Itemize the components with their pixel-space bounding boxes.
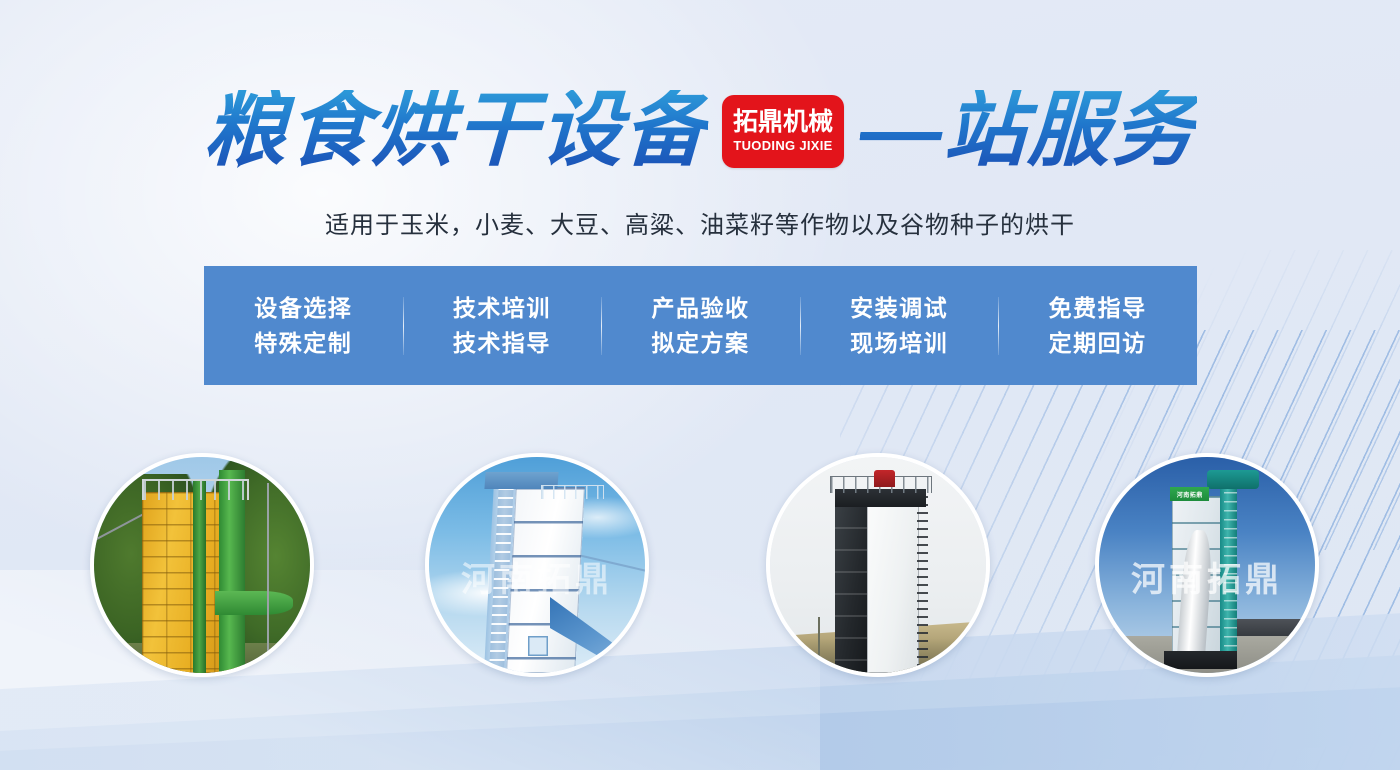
top-railing (541, 485, 603, 499)
dryer-head-unit (1207, 470, 1259, 489)
product-photo-4[interactable]: 河南拓鼎 河南拓鼎 (1095, 453, 1319, 677)
feature-bar: 设备选择 特殊定制 技术培训 技术指导 产品验收 拟定方案 安装调试 现场培训 … (204, 266, 1197, 385)
product-photo-2-scene: 河南拓鼎 (429, 457, 645, 673)
feature-item-2-line2: 技术指导 (453, 329, 551, 358)
dryer-elevator-column (219, 470, 245, 673)
feature-item-2-line1: 技术培训 (453, 294, 551, 323)
utility-pole (818, 617, 820, 673)
headline-left: 粮食烘干设备 (203, 90, 710, 172)
top-railing (142, 479, 250, 500)
subtitle: 适用于玉米，小麦、大豆、高粱、油菜籽等作物以及谷物种子的烘干 (0, 205, 1400, 240)
dryer-red-unit (874, 470, 896, 487)
product-photo-1-scene (94, 457, 310, 673)
dryer-brand-sign: 河南拓鼎 (1170, 487, 1209, 501)
feature-item-5-line2: 定期回访 (1049, 329, 1147, 358)
photo-watermark: 河南拓鼎 (429, 552, 645, 601)
feature-item-5[interactable]: 免费指导 定期回访 (998, 294, 1197, 358)
feature-item-1-line2: 特殊定制 (254, 329, 352, 358)
product-photo-3[interactable] (766, 453, 990, 677)
product-photo-1[interactable] (90, 453, 314, 677)
product-photo-4-scene: 河南拓鼎 河南拓鼎 (1099, 457, 1315, 673)
feature-item-3-line2: 拟定方案 (651, 329, 749, 358)
brand-logo-pinyin: TUODING JIXIE (733, 138, 832, 153)
feature-item-4[interactable]: 安装调试 现场培训 (800, 294, 999, 358)
feature-item-4-line2: 现场培训 (850, 329, 948, 358)
dryer-tower-body (867, 494, 919, 673)
feature-item-5-line1: 免费指导 (1049, 294, 1147, 323)
headline-row: 粮食烘干设备 拓鼎机械 TUODING JIXIE —站服务 (0, 78, 1400, 184)
photo-watermark: 河南拓鼎 (1099, 552, 1315, 601)
brand-logo-chinese: 拓鼎机械 (733, 109, 833, 135)
feature-item-3[interactable]: 产品验收 拟定方案 (601, 294, 800, 358)
product-photo-3-scene (770, 457, 986, 673)
promotional-banner: 粮食烘干设备 拓鼎机械 TUODING JIXIE —站服务 适用于玉米，小麦、… (0, 0, 1400, 770)
control-panel (528, 636, 547, 655)
feature-item-3-line1: 产品验收 (651, 294, 749, 323)
utility-pole (267, 483, 269, 673)
feature-item-1-line1: 设备选择 (254, 294, 352, 323)
headline-right: —站服务 (859, 90, 1198, 172)
feature-item-1[interactable]: 设备选择 特殊定制 (204, 294, 403, 358)
dryer-duct (215, 591, 293, 615)
dryer-column-inner (193, 479, 206, 673)
brand-logo-badge: 拓鼎机械 TUODING JIXIE (722, 95, 844, 168)
dryer-ladder (917, 496, 928, 673)
feature-item-4-line1: 安装调试 (850, 294, 948, 323)
dryer-base (1164, 651, 1237, 668)
dryer-tower-dark-section (835, 505, 870, 673)
product-photo-2[interactable]: 河南拓鼎 (425, 453, 649, 677)
feature-item-2[interactable]: 技术培训 技术指导 (403, 294, 602, 358)
